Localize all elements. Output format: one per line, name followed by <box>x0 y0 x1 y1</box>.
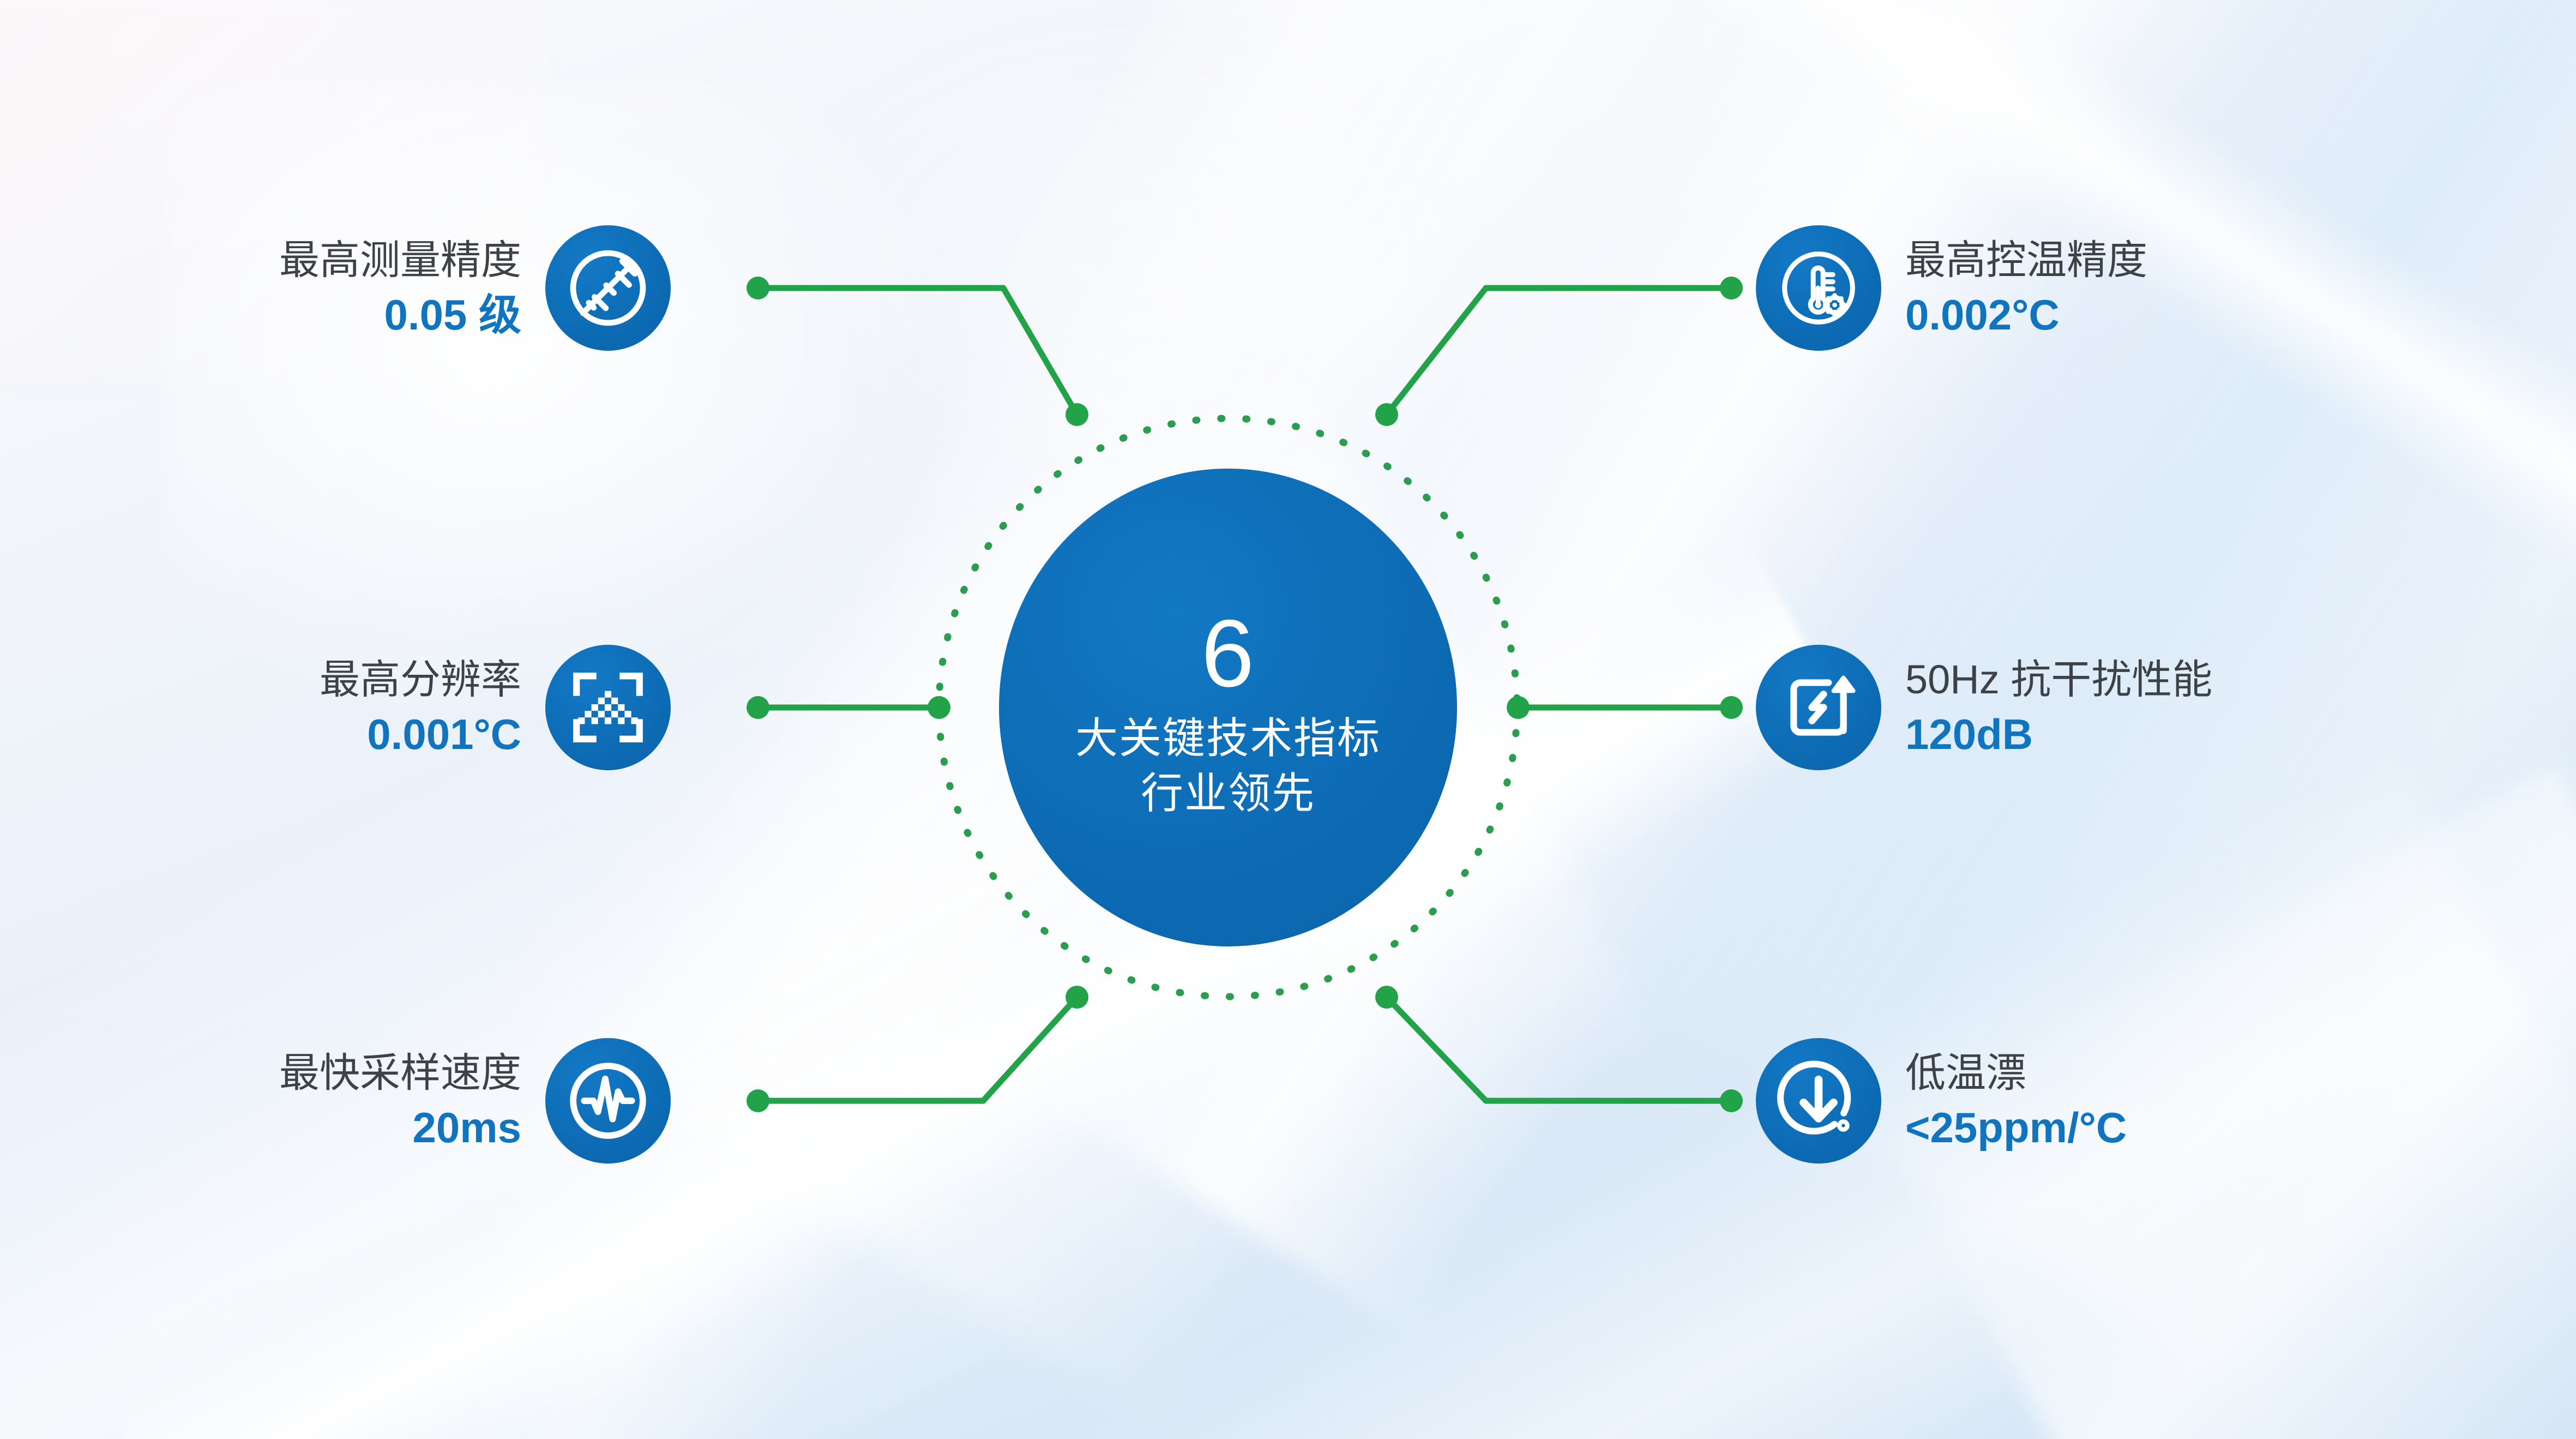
center-hub: 6 大关键技术指标 行业领先 <box>972 451 1484 964</box>
ruler-circle-icon <box>545 225 671 351</box>
feature-value: 0.002°C <box>1905 290 2060 340</box>
feature-value: 0.001°C <box>367 709 521 759</box>
hub-number: 6 <box>1201 605 1255 703</box>
hub-circle: 6 大关键技术指标 行业领先 <box>999 469 1457 946</box>
feature-title: 最高测量精度 <box>279 236 521 284</box>
feature-value: <25ppm/°C <box>1905 1102 2127 1153</box>
feature-sampling-speed[interactable]: 最快采样速度 20ms <box>76 1038 671 1164</box>
feature-title: 低温漂 <box>1905 1049 2026 1096</box>
feature-resolution[interactable]: 最高分辨率 0.001°C <box>76 645 671 770</box>
down-arrow-ring-icon <box>1756 1038 1881 1164</box>
feature-value: 120dB <box>1905 709 2033 759</box>
pulse-waveform-icon <box>545 1038 671 1164</box>
feature-title: 50Hz 抗干扰性能 <box>1905 656 2212 703</box>
connector-top-left <box>758 288 1077 415</box>
connector-bottom-left <box>758 997 1077 1101</box>
connector-bottom-right <box>1387 997 1731 1101</box>
pixel-resolution-icon <box>545 645 671 770</box>
connector-top-right <box>1387 288 1731 415</box>
feature-measurement-accuracy[interactable]: 最高测量精度 0.05 级 <box>76 225 671 351</box>
feature-temperature-drift[interactable]: 低温漂 <25ppm/°C <box>1756 1038 2519 1164</box>
feature-value: 20ms <box>413 1102 522 1153</box>
feature-title: 最快采样速度 <box>279 1049 521 1096</box>
hub-subtitle-line-2: 行业领先 <box>1141 766 1315 821</box>
feature-title: 最高控温精度 <box>1905 236 2147 284</box>
lightning-arrow-icon <box>1756 645 1881 770</box>
hub-subtitle-line-1: 大关键技术指标 <box>1075 711 1381 766</box>
feature-temperature-control-accuracy[interactable]: 最高控温精度 0.002°C <box>1756 225 2497 351</box>
feature-value: 0.05 级 <box>384 290 521 340</box>
thermometer-gear-icon <box>1756 225 1881 351</box>
infographic-canvas: 6 大关键技术指标 行业领先 最高测量精度 0.05 级 <box>0 0 2576 1439</box>
feature-title: 最高分辨率 <box>320 656 521 703</box>
feature-noise-rejection[interactable]: 50Hz 抗干扰性能 120dB <box>1756 645 2552 770</box>
